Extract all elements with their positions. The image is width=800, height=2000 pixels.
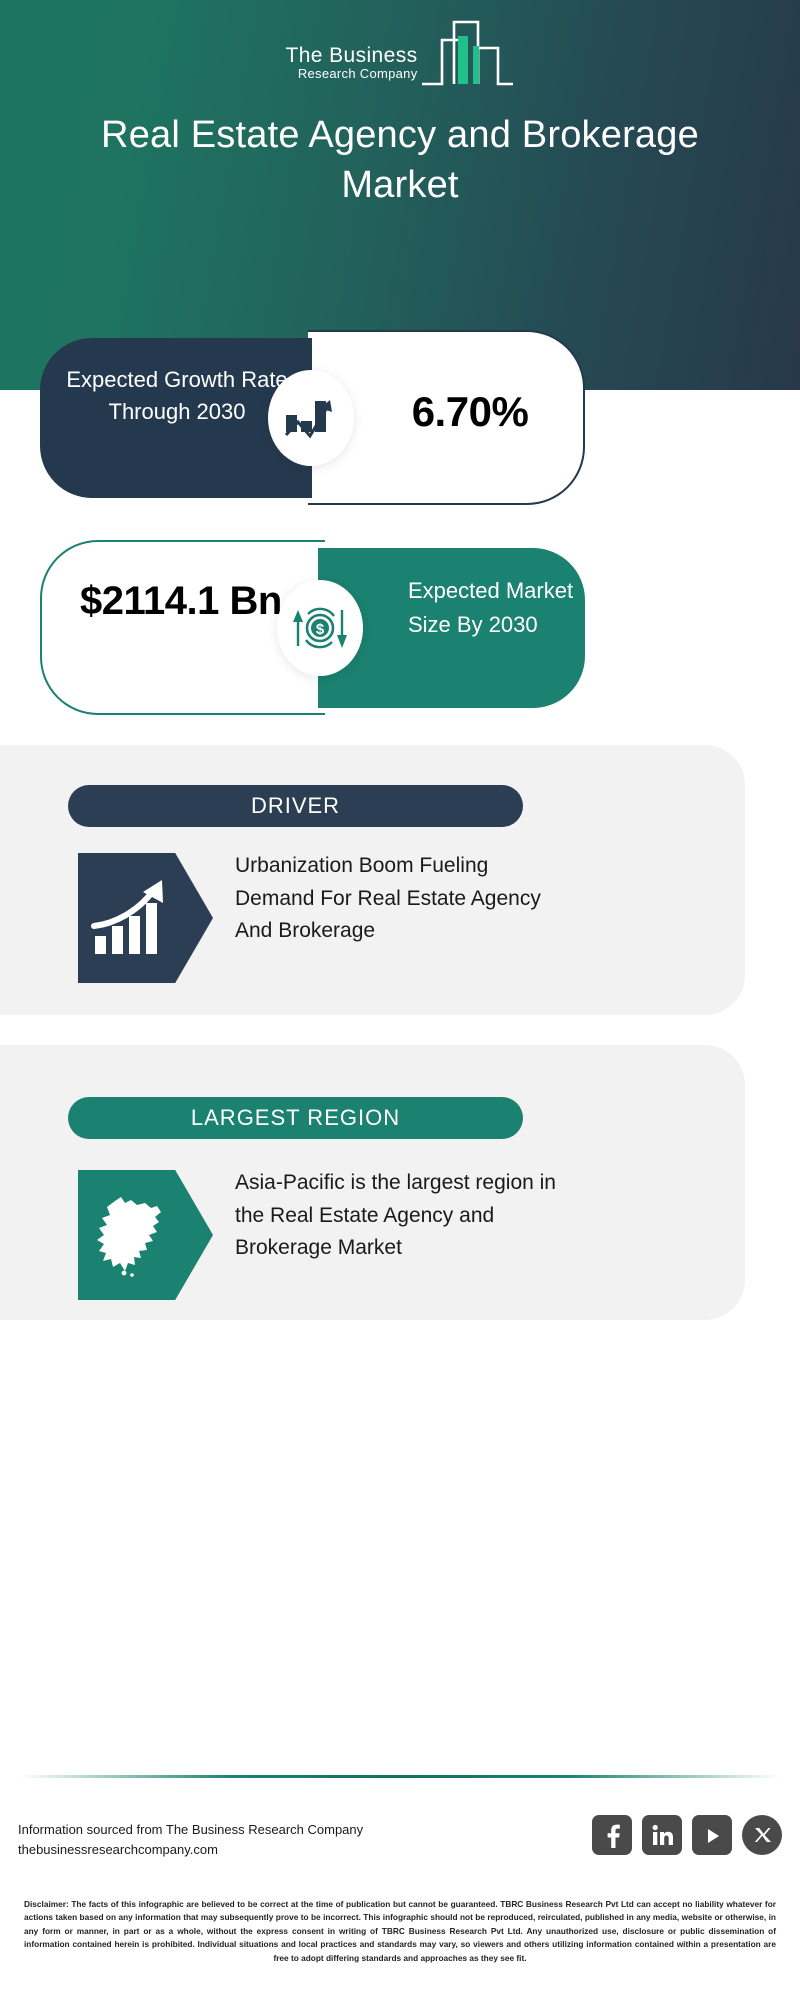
driver-panel: DRIVER Urbanization Boom Fueling Demand … [0,745,745,1015]
asia-map-icon [78,1170,213,1300]
youtube-icon[interactable] [692,1815,732,1855]
growth-chart-arrow-icon [268,370,354,466]
brand-logo-line2: Research Company [298,67,418,81]
bar-chart-logo-icon [420,18,515,93]
growth-bars-arrow-icon [78,853,213,983]
dollar-cycle-icon: $ [277,580,363,676]
page-title: Real Estate Agency and Brokerage Market [60,110,740,210]
disclaimer-text: Disclaimer: The facts of this infographi… [24,1898,776,1965]
footer-divider [20,1775,780,1778]
svg-text:$: $ [316,621,325,638]
growth-rate-card: Expected Growth Rate Through 2030 6.70% [40,330,585,505]
brand-logo-text: The Business Research Company [285,45,417,93]
market-size-card: Expected Market Size By 2030 $2114.1 Bn … [40,540,585,715]
largest-region-panel: LARGEST REGION Asia-Pacific is the large… [0,1045,745,1320]
facebook-icon[interactable] [592,1815,632,1855]
x-twitter-icon[interactable] [742,1815,782,1855]
largest-region-pill-label: LARGEST REGION [68,1097,523,1139]
footer-website-link[interactable]: thebusinessresearchcompany.com [18,1840,363,1860]
footer-source-line1: Information sourced from The Business Re… [18,1820,363,1840]
brand-logo: The Business Research Company [0,18,800,93]
infographic-page: The Business Research Company Real Estat… [0,0,800,2000]
driver-pill-label: DRIVER [68,785,523,827]
driver-body-text: Urbanization Boom Fueling Demand For Rea… [235,850,565,948]
market-size-value: $2114.1 Bn [80,576,295,627]
growth-rate-label: Expected Growth Rate Through 2030 [62,364,292,428]
linkedin-icon[interactable] [642,1815,682,1855]
largest-region-body-text: Asia-Pacific is the largest region in th… [235,1167,565,1265]
footer-source: Information sourced from The Business Re… [18,1820,363,1860]
market-size-label: Expected Market Size By 2030 [408,574,598,642]
social-links [592,1815,782,1855]
brand-logo-line1: The Business [285,45,417,67]
growth-rate-value: 6.70% [370,388,570,436]
